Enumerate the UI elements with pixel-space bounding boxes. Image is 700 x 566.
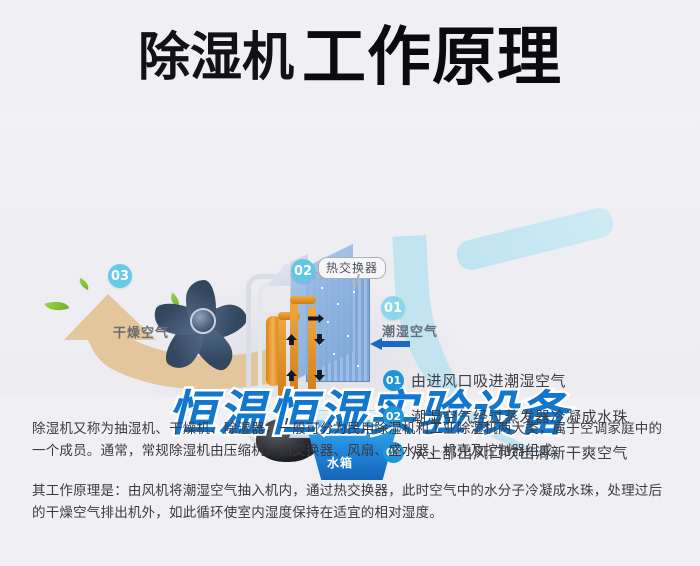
dehumidifier-diagram: 03 02 01 干燥空气 潮湿空气 水箱 热交换器 恒温恒湿实验设备 恒温恒湿… [0, 112, 700, 397]
infographic-page: 除湿机 工作原理 [0, 0, 700, 566]
callout-heat-exchanger: 热交换器 [318, 257, 386, 279]
paragraph-two: 其工作原理是：由风机将潮湿空气抽入机内，通过热交换器，此时空气中的水分子冷凝成水… [32, 480, 672, 524]
title-part-one: 除湿机 [138, 32, 294, 84]
step-badge: 01 [383, 370, 404, 391]
diagram-badge-dry-air: 03 [108, 264, 132, 288]
list-item: 01 由进风口吸进潮湿空气 [383, 370, 693, 391]
page-title: 除湿机 工作原理 [0, 18, 700, 98]
paragraph-one: 除湿机又称为抽湿机、干燥机、除湿器，一般可分为民用除湿机和工业除湿机两大类，属于… [32, 418, 672, 462]
coil-pipe [290, 296, 316, 304]
diagram-badge-heat-exchanger: 02 [291, 259, 315, 283]
description-copy: 除湿机又称为抽湿机、干燥机、除湿器，一般可分为民用除湿机和工业除湿机两大类，属于… [32, 418, 672, 524]
diagram-badge-humid-air: 01 [381, 296, 405, 320]
label-humid-air: 潮湿空气 [382, 321, 438, 340]
step-text: 由进风口吸进潮湿空气 [411, 370, 566, 391]
title-part-two: 工作原理 [302, 26, 562, 90]
fan-hub [190, 308, 216, 334]
label-dry-air: 干燥空气 [113, 322, 169, 341]
